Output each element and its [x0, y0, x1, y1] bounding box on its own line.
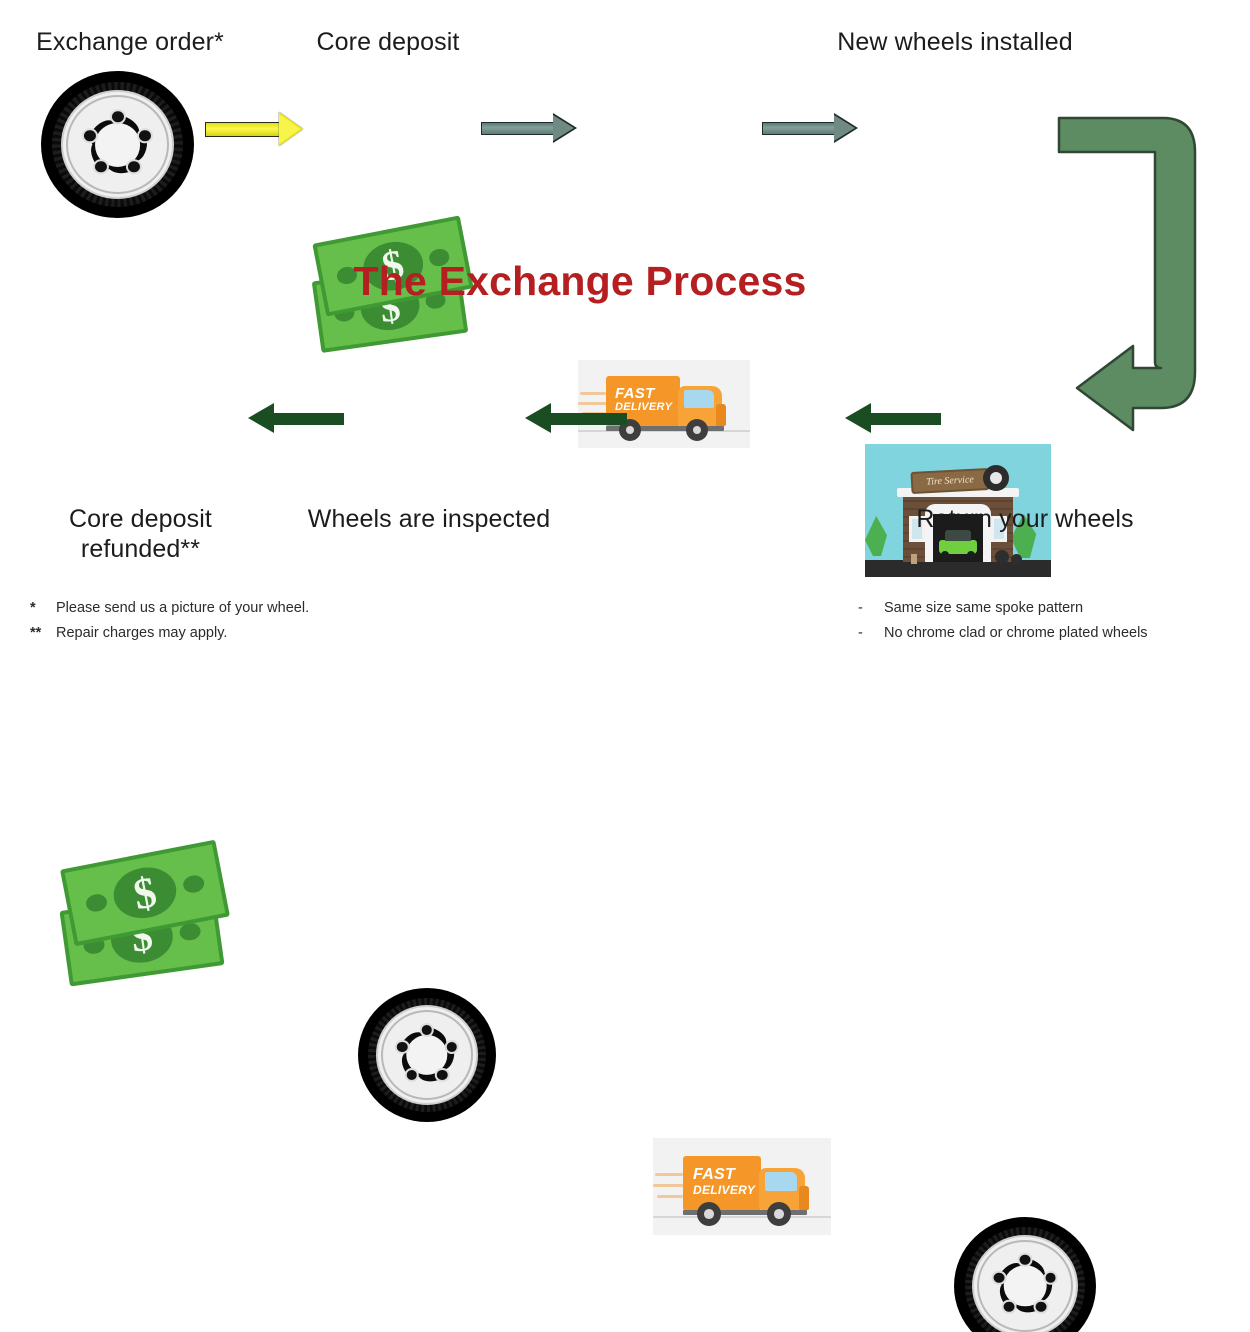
arrow-inspected-to-refund [248, 403, 348, 435]
label-core-deposit-refunded-line2: refunded** [81, 535, 200, 563]
footnote-text: Same size same spoke pattern [884, 596, 1083, 621]
dollar-sign-refund-front: $ [129, 866, 160, 920]
arrow-delivery-to-inspected [525, 403, 630, 435]
delivery-truck-graphic-return: FAST DELIVERY [653, 1138, 831, 1235]
arrow-yellow-order-to-deposit [205, 112, 303, 147]
footnote-text: Please send us a picture of your wheel. [56, 596, 309, 621]
footnote-item: - Same size same spoke pattern [858, 596, 1248, 621]
footnote-text: Repair charges may apply. [56, 621, 227, 646]
label-core-deposit-refunded-line1: Core deposit [69, 505, 212, 533]
arrow-return-to-delivery [845, 403, 945, 435]
exchange-process-diagram: Exchange order* Core deposit New wheels … [0, 0, 1250, 666]
label-exchange-order: Exchange order* [10, 28, 250, 58]
label-return-your-wheels: Return your wheels [900, 505, 1150, 535]
footnote-marker: ** [30, 621, 47, 646]
footnote-item: * Please send us a picture of your wheel… [30, 596, 450, 621]
arrow-delivery-to-shop [762, 113, 862, 145]
footnote-text: No chrome clad or chrome plated wheels [884, 621, 1148, 646]
label-wheels-inspected: Wheels are inspected [300, 505, 558, 535]
label-new-wheels-installed: New wheels installed [810, 28, 1100, 58]
truck-text-line1: FAST [693, 1167, 755, 1184]
footnote-item: - No chrome clad or chrome plated wheels [858, 621, 1248, 646]
footnotes-left: * Please send us a picture of your wheel… [30, 596, 450, 646]
arrow-deposit-to-delivery [481, 113, 581, 145]
footnote-marker: * [30, 596, 47, 621]
shop-sign-text: Tire Service [926, 474, 974, 487]
money-graphic-refund: $ $ [58, 848, 238, 986]
footnote-marker: - [858, 621, 875, 646]
footnote-item: ** Repair charges may apply. [30, 621, 450, 646]
footnote-marker: - [858, 596, 875, 621]
label-core-deposit: Core deposit [293, 28, 483, 58]
footnotes-right: - Same size same spoke pattern - No chro… [858, 596, 1248, 646]
label-core-deposit-refunded: Core deposit refunded** [33, 505, 248, 564]
truck-text-line1: FAST [615, 386, 672, 402]
wheel-graphic-inspected [358, 988, 496, 1122]
page-title: The Exchange Process [0, 258, 1160, 305]
wheel-graphic-exchange-order [41, 71, 194, 218]
wheel-graphic-return [954, 1217, 1096, 1332]
truck-text-line2: DELIVERY [693, 1184, 755, 1197]
